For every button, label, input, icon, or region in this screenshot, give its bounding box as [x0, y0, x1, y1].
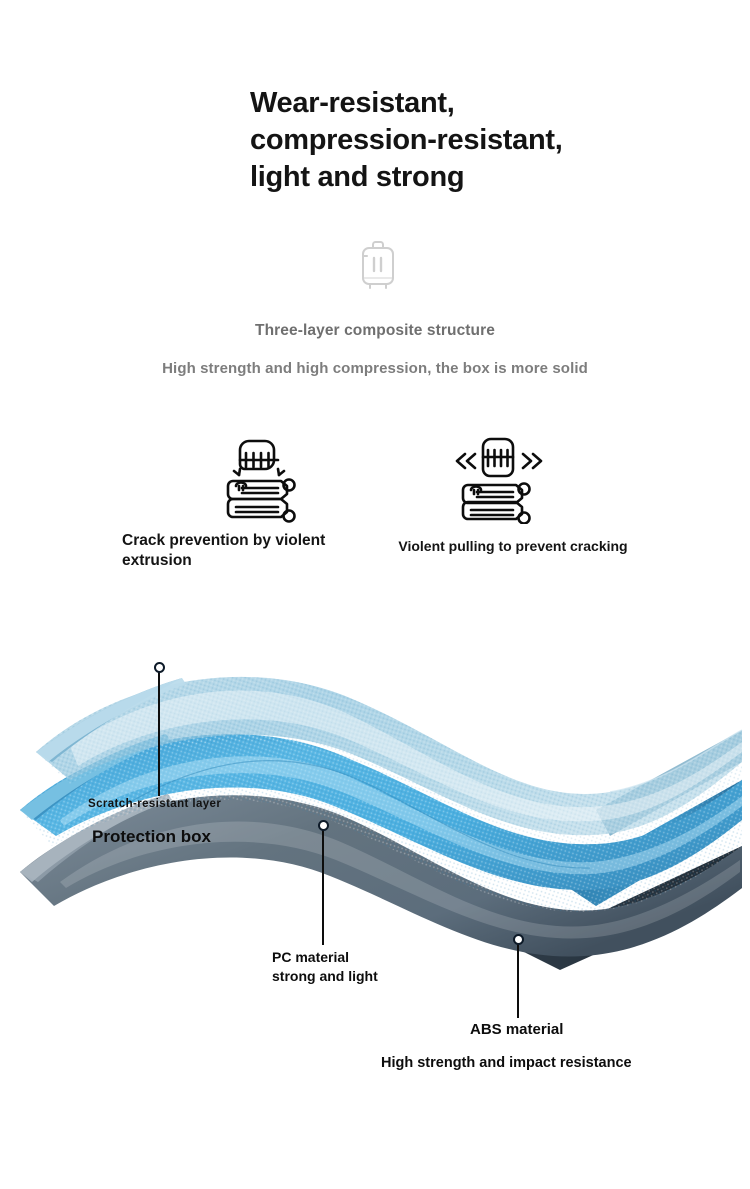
callout-line-pc	[322, 830, 324, 945]
callout-line-scratch	[158, 672, 160, 796]
fist-pulling-box-icon	[443, 428, 555, 524]
feature-caption-extrusion: Crack prevention by violent extrusion	[122, 531, 384, 571]
suitcase-icon	[359, 240, 397, 294]
callout-line-abs	[517, 944, 519, 1018]
layer-structure-illustration	[0, 620, 750, 1000]
callout-dot-pc	[318, 820, 329, 831]
page-title: Wear-resistant, compression-resistant, l…	[250, 85, 580, 196]
feature-caption-pulling: Violent pulling to prevent cracking	[384, 538, 642, 556]
label-abs-material: ABS material	[470, 1021, 563, 1038]
fist-pressing-box-icon	[212, 428, 310, 524]
label-abs-description: High strength and impact resistance	[381, 1055, 632, 1071]
callout-dot-scratch	[154, 662, 165, 673]
label-pc-material: PC material strong and light	[272, 948, 382, 986]
subtitle-primary: Three-layer composite structure	[0, 322, 750, 340]
label-protection-box: Protection box	[92, 827, 211, 847]
label-scratch-resistant-layer: Scratch-resistant layer	[88, 798, 221, 810]
callout-dot-abs	[513, 934, 524, 945]
subtitle-secondary: High strength and high compression, the …	[0, 360, 750, 377]
